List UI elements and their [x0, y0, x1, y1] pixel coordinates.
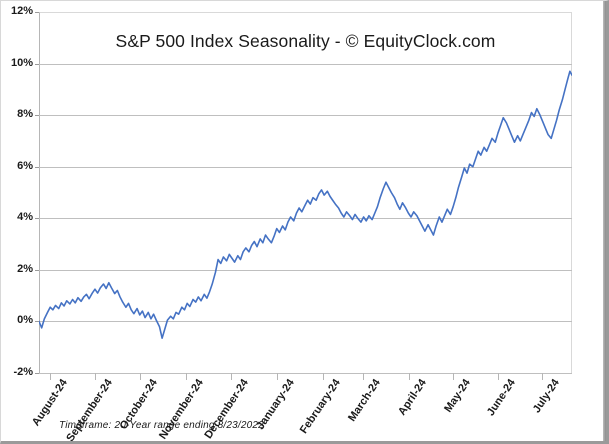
x-axis-tick-label: February-24 [297, 377, 342, 436]
y-axis-tick-label: 4% [1, 211, 33, 223]
chart-footnote: Timeframe: 20-Year range ending 8/23/202… [59, 420, 264, 431]
x-axis-tick-label: May-24 [442, 377, 473, 415]
y-axis-tick-label: 12% [1, 5, 33, 17]
x-axis-tick-mark [323, 373, 324, 380]
y-axis-tick-mark [35, 64, 39, 65]
y-axis-tick-label: 0% [1, 314, 33, 326]
x-axis-tick-label: September-24 [64, 377, 115, 444]
y-axis-tick-label: 10% [1, 57, 33, 69]
y-axis-tick-label: -2% [1, 366, 33, 378]
y-axis-tick-mark [35, 12, 39, 13]
y-axis-tick-mark [35, 373, 39, 374]
x-axis-tick-mark [95, 373, 96, 380]
y-axis-tick-label: 8% [1, 108, 33, 120]
x-axis-tick-mark [277, 373, 278, 380]
y-axis-tick-mark [35, 321, 39, 322]
x-axis-tick-mark [542, 373, 543, 380]
gridline--2 [39, 373, 572, 374]
y-axis-tick-mark [35, 218, 39, 219]
y-axis-tick-mark [35, 115, 39, 116]
x-axis-tick-label: July-24 [531, 377, 562, 415]
x-axis-tick-label: March-24 [346, 377, 383, 424]
x-axis-tick-mark [186, 373, 187, 380]
chart-window: S&P 500 Index Seasonality - © EquityCloc… [0, 0, 609, 444]
series-line-chart [39, 12, 572, 373]
y-axis-tick-mark [35, 167, 39, 168]
x-axis-tick-label: April-24 [396, 377, 429, 418]
x-axis-tick-label: June-24 [485, 377, 518, 418]
y-axis-tick-mark [35, 270, 39, 271]
x-axis-tick-mark [363, 373, 364, 380]
x-axis-tick-mark [498, 373, 499, 380]
x-axis-tick-mark [231, 373, 232, 380]
x-axis-tick-mark [453, 373, 454, 380]
x-axis-tick-mark [50, 373, 51, 380]
x-axis-tick-mark [140, 373, 141, 380]
plot-area [39, 12, 572, 373]
x-axis-tick-mark [409, 373, 410, 380]
y-axis-tick-label: 6% [1, 160, 33, 172]
y-axis-tick-label: 2% [1, 263, 33, 275]
x-axis-tick-label: November-24 [157, 377, 206, 441]
sp500-seasonality-line [39, 71, 572, 338]
x-axis-tick-label: December-24 [202, 377, 251, 441]
